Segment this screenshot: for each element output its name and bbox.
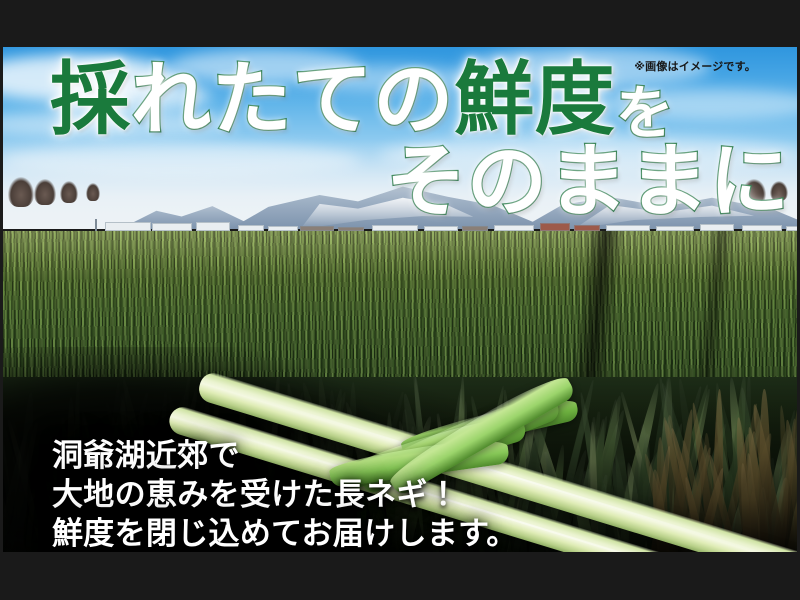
headline-char: て: [292, 58, 373, 142]
headline-char: に: [709, 140, 790, 224]
horizon-building: [152, 223, 192, 231]
antenna-tower: [95, 219, 97, 231]
bare-tree: [34, 179, 56, 205]
letterbox-bottom: [0, 552, 800, 600]
copy-line-2: 大地の恵みを受けた長ネギ！: [52, 477, 518, 514]
bare-tree: [60, 181, 78, 203]
headline-char: 鮮: [454, 58, 535, 142]
image-disclaimer-note: ※画像はイメージです。: [634, 58, 756, 74]
description-copy: 洞爺湖近郊で 大地の恵みを受けた長ネギ！ 鮮度を閉じ込めてお届けします。: [52, 438, 518, 555]
headline-line-2: そのままに: [386, 140, 790, 224]
headline-char: れ: [131, 58, 212, 142]
letterbox-left-edge: [0, 0, 3, 600]
headline-char: 採: [50, 58, 131, 142]
copy-line-1: 洞爺湖近郊で: [52, 438, 518, 475]
headline-char: の: [373, 58, 454, 142]
product-banner: 採れたての鮮度を そのままに ※画像はイメージです。 洞爺湖近郊で 大地の恵みを…: [0, 0, 800, 600]
horizon-building: [105, 222, 151, 231]
bare-tree: [86, 183, 100, 201]
headline-char: そ: [386, 140, 467, 224]
copy-line-3: 鮮度を閉じ込めてお届けします。: [52, 516, 518, 553]
headline-char: ま: [548, 140, 629, 224]
bare-tree: [8, 177, 34, 207]
letterbox-top: [0, 0, 800, 47]
headline-char: ま: [628, 140, 709, 224]
headline-char: た: [212, 58, 293, 142]
headline-char: の: [467, 140, 548, 224]
horizon-building: [196, 222, 230, 231]
headline-char: 度: [535, 58, 616, 142]
